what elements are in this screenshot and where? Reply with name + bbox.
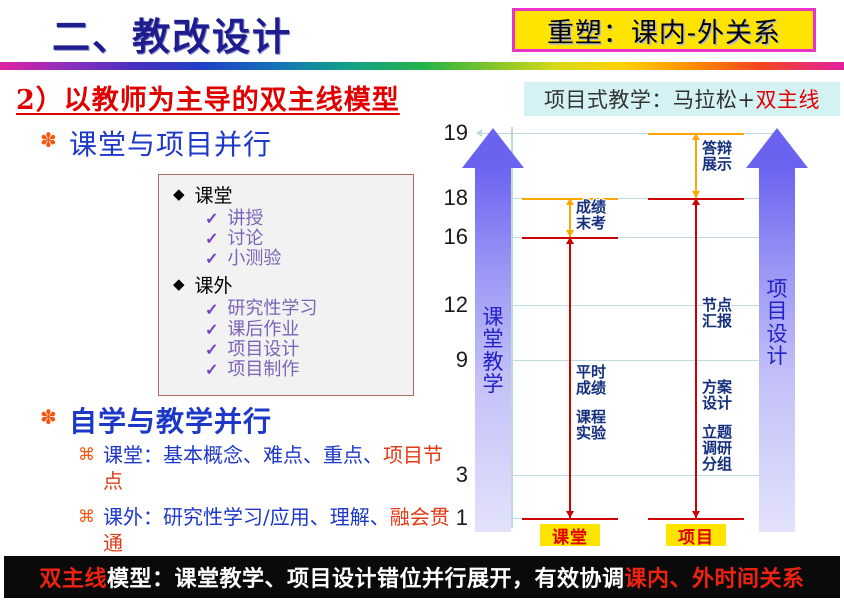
sub-body: 基本概念、难点、 [163,443,323,467]
check-icon: ✓ [205,321,218,339]
frame-item: ✓ 项目设计 [205,340,413,360]
classroom-exam-bracket-cap-top [566,198,574,205]
diagram-plot-area: 19181612931课堂教学项目设计成绩末考平时成绩课程实验答辩展示节点汇报方… [424,120,844,546]
check-icon: ✓ [205,210,218,228]
diagram-title-box: 项目式教学：马拉松+双主线 [524,82,840,116]
bullet-label: 自学与教学并行 [69,400,272,440]
frame-item: ✓ 讨论 [205,229,413,249]
frame-item-label: 讲授 [227,209,263,229]
sub-bullet-classroom: ⌘ 课堂：基本概念、难点、重点、项目节点 [78,443,450,494]
frame-group1-label: 课堂 [195,181,233,208]
classroom-exam-bracket-cap-bottom [566,230,574,237]
check-icon: ✓ [205,341,218,359]
label-course-experiment: 课程实验 [576,410,606,442]
diamond-icon: ◆ [173,275,185,294]
project-main-bracket-cap-bottom [692,511,700,518]
label-regular-score: 平时成绩 [576,365,606,397]
diagram-title-prefix: 项目式教学：马拉松+ [544,88,756,112]
frame-item-label: 项目制作 [227,360,299,380]
label-exam-score: 成绩末考 [576,200,606,232]
classroom-regular-bracket-cap-top [566,237,574,244]
sub-bullet-text: 课外：研究性学习/应用、理解、融会贯通 [103,505,450,556]
frame-item-label: 讨论 [227,229,263,249]
slide-root: 二、教改设计 重塑：课内-外关系 2）以教师为主导的双主线模型 课堂与项目并行 … [0,0,844,602]
flower-bullet-icon [42,413,57,428]
section-heading: 2）以教师为主导的双主线模型 [16,78,400,117]
sub-body2: 重点、 [323,443,383,467]
frame-item-label: 项目设计 [227,340,299,360]
label-defense-show: 答辩展示 [702,141,732,173]
frame-item: ✓ 讲授 [205,209,413,229]
sub-bullet-outside: ⌘ 课外：研究性学习/应用、理解、融会贯通 [78,505,450,556]
header-badge: 重塑：课内-外关系 [512,8,816,52]
bullet-selfstudy-teaching: 自学与教学并行 [42,400,272,440]
label-node-report: 节点汇报 [702,298,732,330]
project-main-bracket-cap-top [692,198,700,205]
classroom-teaching-arrow-head [462,128,524,168]
rainbow-divider [0,62,844,70]
project-design-arrow-head [746,128,808,168]
label-scheme-design: 方案设计 [702,380,732,412]
frame-item-label: 小测验 [227,249,281,269]
footer-accent-2: 课内、外时间关系 [625,566,805,592]
detail-frame: ◆ 课堂 ✓ 讲授 ✓ 讨论 ✓ 小测验 ◆ 课外 ✓ 研究性学习 ✓ 课后作业… [158,174,414,396]
check-icon: ✓ [205,230,218,248]
project-defense-bracket-cap-top [692,133,700,140]
sub-bullet-text: 课堂：基本概念、难点、重点、项目节点 [103,443,450,494]
diamond-icon: ◆ [173,185,185,204]
frame-group2-label: 课外 [195,271,233,298]
sub-body: 研究性学习/应用、 [163,505,330,529]
project-defense-bracket-axis [695,133,697,198]
footer-accent-1: 双主线 [39,566,107,592]
footer-middle: 模型：课堂教学、项目设计错位并行展开，有效协调 [107,566,625,592]
project-design-arrow-label: 项目设计 [757,278,797,367]
project-defense-bracket-cap-bottom [692,191,700,198]
footer-banner: 双主线模型：课堂教学、项目设计错位并行展开，有效协调课内、外时间关系 [4,556,840,598]
frame-item: ✓ 课后作业 [205,320,413,340]
timeline-diagram: 项目式教学：马拉松+双主线 19181612931课堂教学项目设计成绩末考平时成… [424,76,844,546]
label-topic-research-group: 立题调研分组 [702,425,732,473]
sub-body2: 理解、 [330,505,390,529]
bottom-box-project: 项目 [666,524,726,546]
page-title: 二、教改设计 [52,6,292,61]
check-icon: ✓ [205,361,218,379]
classroom-regular-bracket-axis [569,237,571,518]
diagram-title: 项目式教学：马拉松+双主线 [544,84,820,114]
project-main-bracket-bottom-bar [648,518,744,520]
bullet-label: 课堂与项目并行 [69,123,272,163]
frame-item: ✓ 小测验 [205,249,413,269]
frame-group2-title: ◆ 课外 [173,271,413,298]
sub-head: 课外： [103,505,163,529]
frame-item-label: 课后作业 [227,320,299,340]
check-icon: ✓ [205,301,218,319]
marker-icon: ⌘ [78,443,95,468]
classroom-regular-bracket-bottom-bar [522,518,618,520]
classroom-teaching-arrow-label: 课堂教学 [473,306,513,395]
frame-item: ✓ 研究性学习 [205,299,413,319]
marker-icon: ⌘ [78,505,95,530]
bullet-classroom-project: 课堂与项目并行 [42,123,272,163]
frame-item: ✓ 项目制作 [205,360,413,380]
frame-group1-title: ◆ 课堂 [173,181,413,208]
sub-head: 课堂： [103,443,163,467]
flower-bullet-icon [42,136,57,151]
bottom-box-classroom: 课堂 [540,524,600,546]
footer-text: 双主线模型：课堂教学、项目设计错位并行展开，有效协调课内、外时间关系 [39,561,804,593]
project-main-bracket-axis [695,198,697,518]
classroom-regular-bracket-cap-bottom [566,511,574,518]
check-icon: ✓ [205,250,218,268]
frame-item-label: 研究性学习 [227,299,317,319]
diagram-title-accent: 双主线 [756,88,821,112]
header-badge-label: 重塑：课内-外关系 [547,11,781,50]
